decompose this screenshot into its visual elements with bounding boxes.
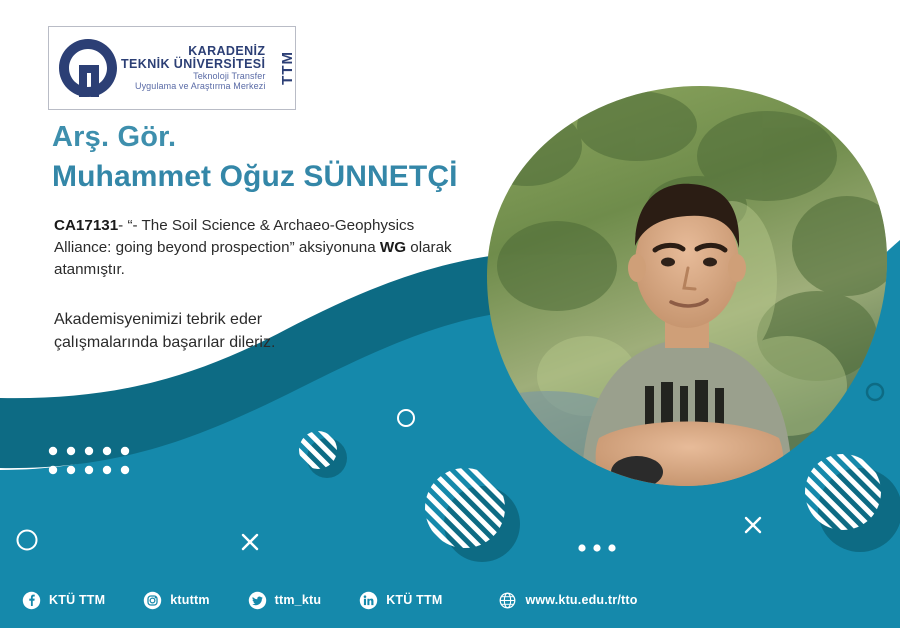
social-item-twitter[interactable]: ttm_ktu — [248, 591, 322, 610]
announcement-text: CA17131- “- The Soil Science & Archaeo-G… — [54, 215, 454, 281]
three-dots — [578, 544, 615, 551]
instagram-handle: ktuttm — [170, 593, 209, 607]
social-item-linkedin[interactable]: KTÜ TTM — [359, 591, 442, 610]
ktu-ttm-logo: KARADENİZ TEKNİK ÜNİVERSİTESİ Teknoloji … — [48, 26, 296, 110]
logo-line-2: TEKNİK ÜNİVERSİTESİ — [121, 58, 265, 71]
academic-role: Arş. Gör. — [52, 121, 176, 154]
social-item-facebook[interactable]: KTÜ TTM — [22, 591, 105, 610]
globe-icon[interactable] — [498, 591, 517, 610]
facebook-icon[interactable] — [22, 591, 41, 610]
logo-abbreviation: TTM — [277, 51, 296, 85]
portrait-photo — [487, 86, 887, 486]
portrait-illustration — [487, 86, 887, 486]
linkedin-handle: KTÜ TTM — [386, 593, 442, 607]
twitter-icon[interactable] — [248, 591, 267, 610]
poster-canvas: KARADENİZ TEKNİK ÜNİVERSİTESİ Teknoloji … — [0, 0, 900, 628]
social-item-instagram[interactable]: ktuttm — [143, 591, 209, 610]
twitter-handle: ttm_ktu — [275, 593, 322, 607]
logo-text-block: KARADENİZ TEKNİK ÜNİVERSİTESİ Teknoloji … — [121, 45, 271, 91]
website-url: www.ktu.edu.tr/tto — [525, 593, 637, 607]
academic-name: Muhammet Oğuz SÜNNETÇİ — [52, 160, 458, 194]
linkedin-icon[interactable] — [359, 591, 378, 610]
wish-line-2: çalışmalarında başarılar dileriz. — [54, 332, 454, 355]
wish-line-1: Akademisyenimizi tebrik eder — [54, 309, 454, 332]
logo-line-1: KARADENİZ — [121, 45, 265, 58]
working-group-label: WG — [380, 239, 406, 256]
action-code: CA17131 — [54, 217, 118, 234]
facebook-handle: KTÜ TTM — [49, 593, 105, 607]
logo-line-3: Teknoloji Transfer — [121, 72, 265, 81]
social-item-website[interactable]: www.ktu.edu.tr/tto — [498, 591, 637, 610]
congratulations-text: Akademisyenimizi tebrik eder çalışmaları… — [54, 309, 454, 354]
ktu-logo-mark — [55, 35, 121, 101]
logo-line-4: Uygulama ve Araştırma Merkezi — [121, 82, 265, 91]
instagram-icon[interactable] — [143, 591, 162, 610]
social-footer: KTÜ TTM ktuttm ttm_ktu — [0, 572, 900, 628]
